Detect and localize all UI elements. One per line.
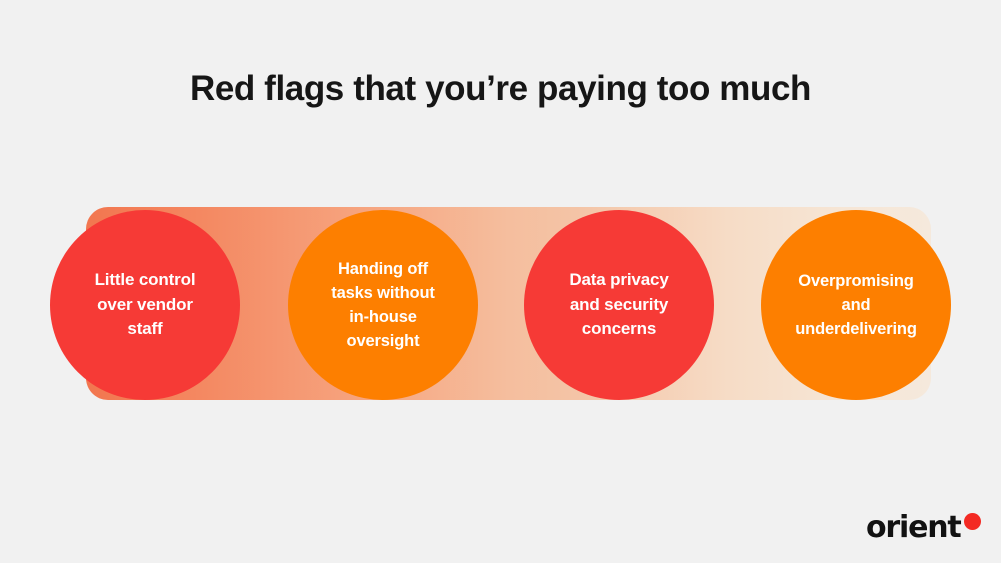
flag-label-1: Little control over vendor staff xyxy=(95,268,196,342)
flag-label-3: Data privacy and security concerns xyxy=(569,268,668,342)
orient-logo[interactable]: orient xyxy=(866,511,981,543)
logo-dot-icon xyxy=(964,513,981,530)
flag-label-2: Handing off tasks without in-house overs… xyxy=(331,257,434,353)
flag-circle-4[interactable]: Overpromising and underdelivering xyxy=(761,210,951,400)
red-flags-list: Little control over vendor staff Handing… xyxy=(0,0,1001,563)
flag-label-4: Overpromising and underdelivering xyxy=(795,269,917,341)
slide-canvas: Red flags that you’re paying too much Li… xyxy=(0,0,1001,563)
flag-circle-2[interactable]: Handing off tasks without in-house overs… xyxy=(288,210,478,400)
flag-circle-1[interactable]: Little control over vendor staff xyxy=(50,210,240,400)
logo-wordmark: orient xyxy=(866,513,961,543)
flag-circle-3[interactable]: Data privacy and security concerns xyxy=(524,210,714,400)
